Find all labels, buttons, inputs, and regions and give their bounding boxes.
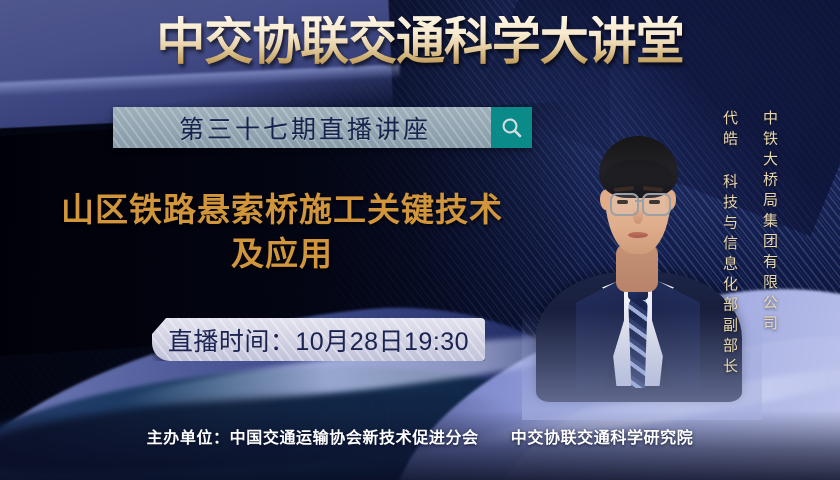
lecture-title: 山区铁路悬索桥施工关键技术 及应用	[22, 188, 542, 276]
episode-label: 第三十七期直播讲座	[173, 110, 431, 146]
portrait-mouth	[628, 232, 648, 238]
speaker-name-and-role: 代皓 科技与信息化部副部长	[722, 110, 737, 379]
page-title: 中交协联交通科学大讲堂	[25, 16, 815, 68]
lecture-title-line-2: 及应用	[22, 232, 542, 276]
episode-banner: 第三十七期直播讲座	[113, 107, 532, 148]
portrait-hair-fringe	[604, 160, 672, 184]
broadcast-time-label: 直播时间：10月28日19:30	[168, 322, 469, 358]
episode-banner-text-area: 第三十七期直播讲座	[113, 107, 491, 148]
speaker-organization: 中铁大桥局集团有限公司	[762, 110, 777, 336]
lecture-title-line-1: 山区铁路悬索桥施工关键技术	[61, 191, 503, 228]
portrait-glasses-right-lens	[642, 193, 671, 216]
footer-organizers: 主办单位：中国交通运输协会新技术促进分会 中交协联交通科学研究院	[0, 424, 840, 448]
speaker-portrait	[552, 86, 722, 386]
footer-organizer-label: 主办单位：中国交通运输协会新技术促进分会	[147, 430, 479, 447]
search-icon	[500, 116, 524, 140]
portrait-glasses-bridge	[635, 200, 642, 202]
live-lecture-poster: 中交协联交通科学大讲堂 第三十七期直播讲座 山区铁路悬索桥施工关键技术 及应用 …	[0, 0, 840, 480]
search-icon-tile[interactable]	[491, 107, 532, 148]
broadcast-time-banner: 直播时间：10月28日19:30	[152, 318, 485, 361]
footer-co-organizer: 中交协联交通科学研究院	[511, 430, 694, 447]
portrait-nose	[633, 208, 643, 224]
